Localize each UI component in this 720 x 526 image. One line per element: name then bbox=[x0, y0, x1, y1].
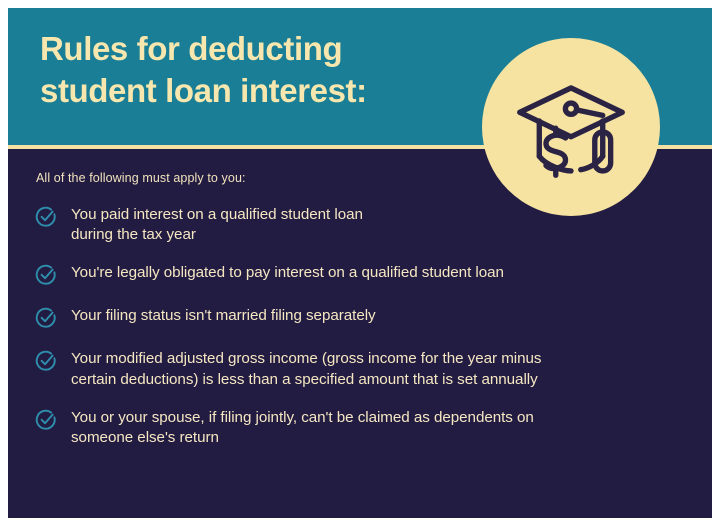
list-item-label: You're legally obligated to pay interest… bbox=[71, 262, 504, 283]
list-item-label: You or your spouse, if filing jointly, c… bbox=[71, 407, 534, 448]
intro-text: All of the following must apply to you: bbox=[36, 171, 246, 185]
circle-check-icon bbox=[34, 408, 58, 432]
circle-check-icon bbox=[34, 205, 58, 229]
list-item-label: Your filing status isn't married filing … bbox=[71, 305, 376, 326]
page-title: Rules for deducting student loan interes… bbox=[40, 28, 470, 112]
circle-check-icon bbox=[34, 306, 58, 330]
infographic-card: Rules for deducting student loan interes… bbox=[8, 8, 712, 518]
circle-check-icon bbox=[34, 349, 58, 373]
list-item: Your filing status isn't married filing … bbox=[34, 305, 694, 331]
list-item: Your modified adjusted gross income (gro… bbox=[34, 348, 694, 389]
list-item-label: You paid interest on a qualified student… bbox=[71, 204, 363, 245]
list-item: You're legally obligated to pay interest… bbox=[34, 262, 694, 288]
requirements-list: You paid interest on a qualified student… bbox=[34, 204, 694, 448]
list-item: You or your spouse, if filing jointly, c… bbox=[34, 407, 694, 448]
graduation-cap-dollar-icon bbox=[482, 38, 660, 216]
list-item-label: Your modified adjusted gross income (gro… bbox=[71, 348, 541, 389]
list-item: You paid interest on a qualified student… bbox=[34, 204, 694, 245]
circle-check-icon bbox=[34, 263, 58, 287]
